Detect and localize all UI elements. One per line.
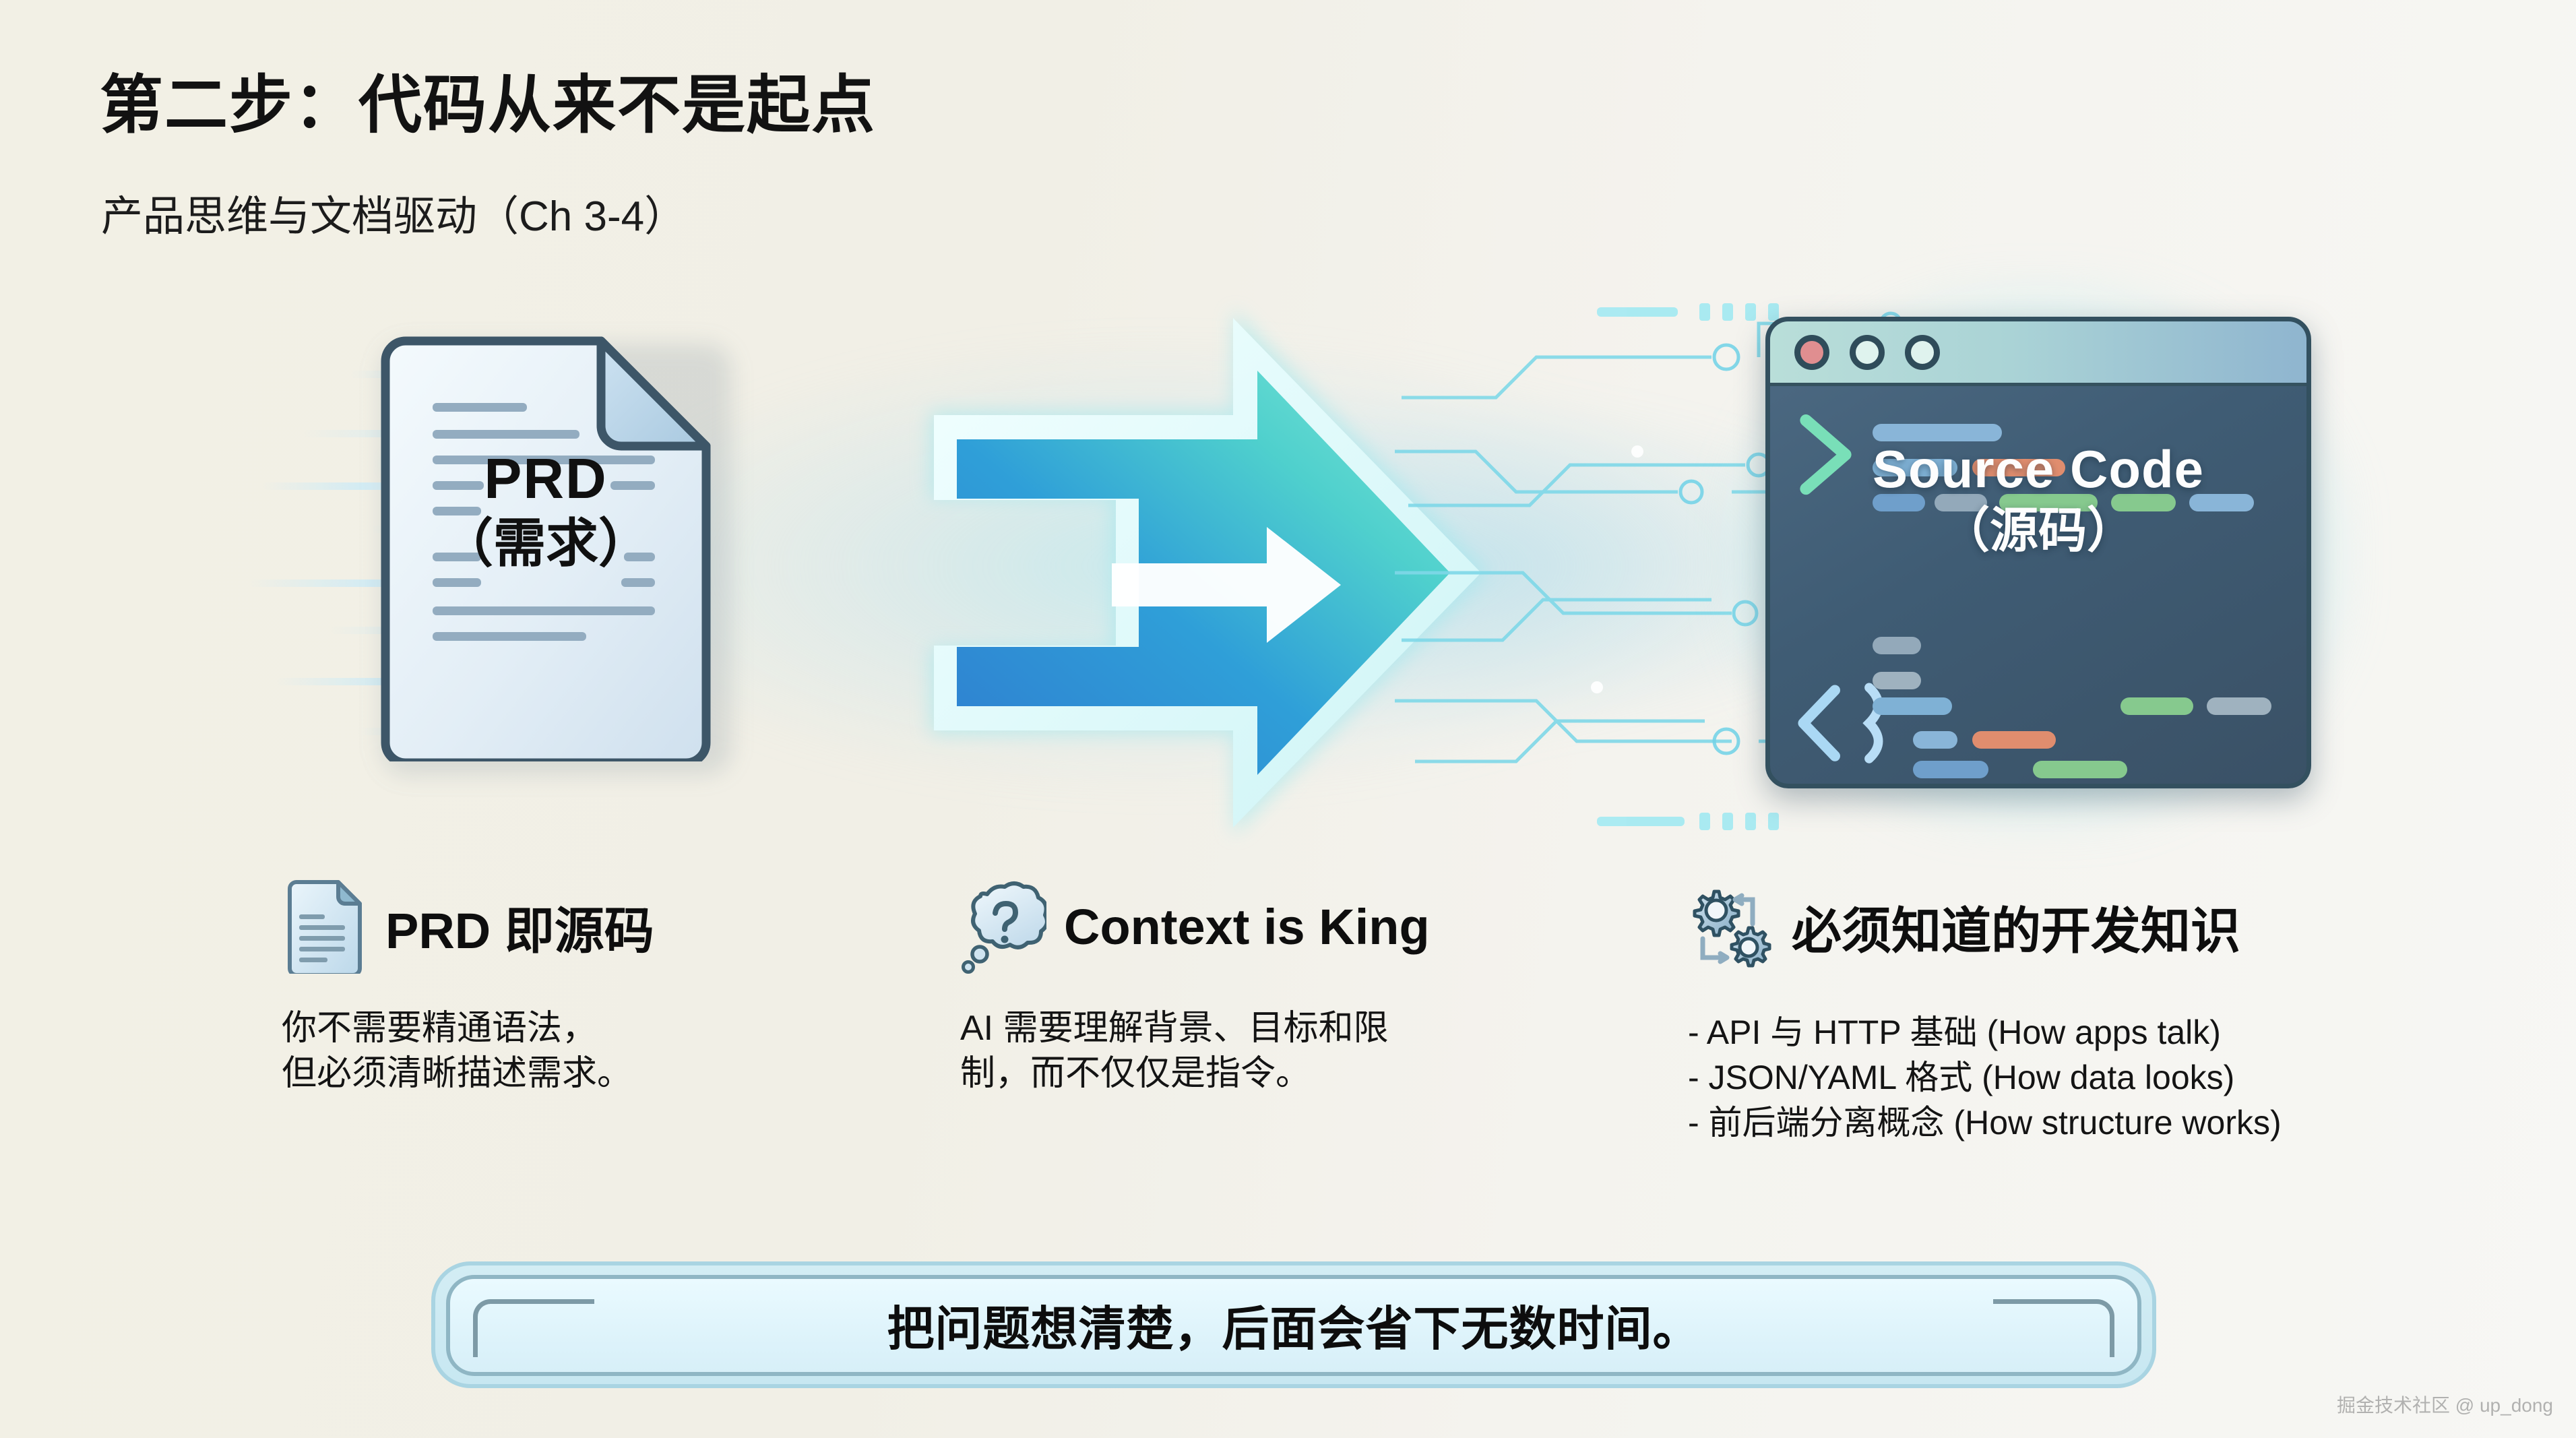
feature-title: 必须知道的开发知识 xyxy=(1792,891,2240,963)
key-takeaway-banner: 把问题想清楚，后面会省下无数时间。 xyxy=(431,1261,2156,1388)
code-window-label: Source Code （源码） xyxy=(1770,441,2306,557)
feature-body-line: 制，而不仅仅是指令。 xyxy=(960,1051,1634,1096)
prd-doc-label-line1: PRD xyxy=(371,449,721,509)
feature-context-is-king: Context is King AI 需要理解背景、目标和限 制，而不仅仅是指令… xyxy=(960,866,1634,1096)
gears-cycle-icon xyxy=(1688,879,1774,974)
code-window-titlebar xyxy=(1770,321,2306,386)
feature-body: 你不需要精通语法， 但必须清晰描述需求。 xyxy=(282,1006,888,1096)
feature-title: Context is King xyxy=(1064,898,1430,956)
window-maximize-dot-icon xyxy=(1905,335,1940,370)
code-window-icon: Source Code （源码） xyxy=(1765,317,2311,788)
thought-bubble-question-icon xyxy=(960,879,1046,974)
feature-columns: PRD 即源码 你不需要精通语法， 但必须清晰描述需求。 xyxy=(0,866,2576,1216)
document-icon xyxy=(282,879,368,974)
code-window-label-line1: Source Code xyxy=(1770,441,2306,497)
source-code-window-graphic: Source Code （源码） xyxy=(1765,317,2311,788)
banner-text: 把问题想清楚，后面会省下无数时间。 xyxy=(431,1261,2156,1388)
feature-body-line: AI 需要理解背景、目标和限 xyxy=(960,1006,1634,1051)
feature-title: PRD 即源码 xyxy=(385,891,654,963)
window-minimize-dot-icon xyxy=(1850,335,1885,370)
page-title: 第二步：代码从来不是起点 xyxy=(100,54,876,146)
prd-document-graphic: PRD （需求） xyxy=(371,330,721,761)
feature-body-line: - API 与 HTTP 基础 (How apps talk) xyxy=(1688,1010,2564,1055)
feature-body-line: 但必须清晰描述需求。 xyxy=(282,1051,888,1096)
code-window-label-line2: （源码） xyxy=(1770,505,2306,557)
prd-doc-label-line2: （需求） xyxy=(371,515,721,571)
slide-root: 第二步：代码从来不是起点 产品思维与文档驱动（Ch 3-4） xyxy=(0,0,2576,1438)
feature-body: AI 需要理解背景、目标和限 制，而不仅仅是指令。 xyxy=(960,1006,1634,1096)
feature-body-line: - 前后端分离概念 (How structure works) xyxy=(1688,1100,2564,1146)
hero-illustration: PRD （需求） xyxy=(290,290,2284,849)
feature-body: - API 与 HTTP 基础 (How apps talk) - JSON/Y… xyxy=(1688,1010,2564,1146)
page-subtitle: 产品思维与文档驱动（Ch 3-4） xyxy=(101,182,686,243)
feature-required-knowledge: 必须知道的开发知识 - API 与 HTTP 基础 (How apps talk… xyxy=(1688,866,2564,1146)
prd-doc-label: PRD （需求） xyxy=(371,449,721,571)
feature-prd-is-source: PRD 即源码 你不需要精通语法， 但必须清晰描述需求。 xyxy=(282,866,888,1096)
feature-body-line: 你不需要精通语法， xyxy=(282,1006,888,1051)
window-close-dot-icon xyxy=(1794,335,1829,370)
feature-body-line: - JSON/YAML 格式 (How data looks) xyxy=(1688,1055,2564,1100)
watermark: 掘金技术社区 @ up_dong xyxy=(2337,1391,2553,1418)
